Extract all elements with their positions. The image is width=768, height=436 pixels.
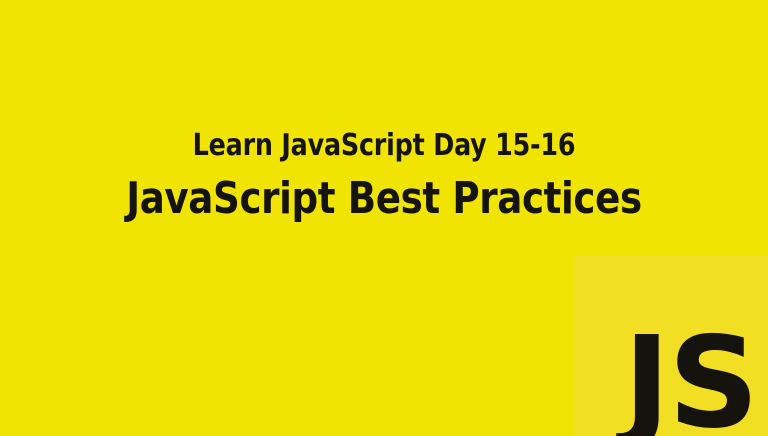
page-title: JavaScript Best Practices — [23, 173, 745, 225]
javascript-logo-icon: JS — [623, 334, 757, 432]
course-day-label: Learn JavaScript Day 15-16 — [23, 128, 745, 165]
title-block: Learn JavaScript Day 15-16 JavaScript Be… — [0, 128, 768, 225]
slide-canvas: JS Learn JavaScript Day 15-16 JavaScript… — [0, 0, 768, 436]
javascript-logo-panel: JS — [573, 255, 768, 436]
